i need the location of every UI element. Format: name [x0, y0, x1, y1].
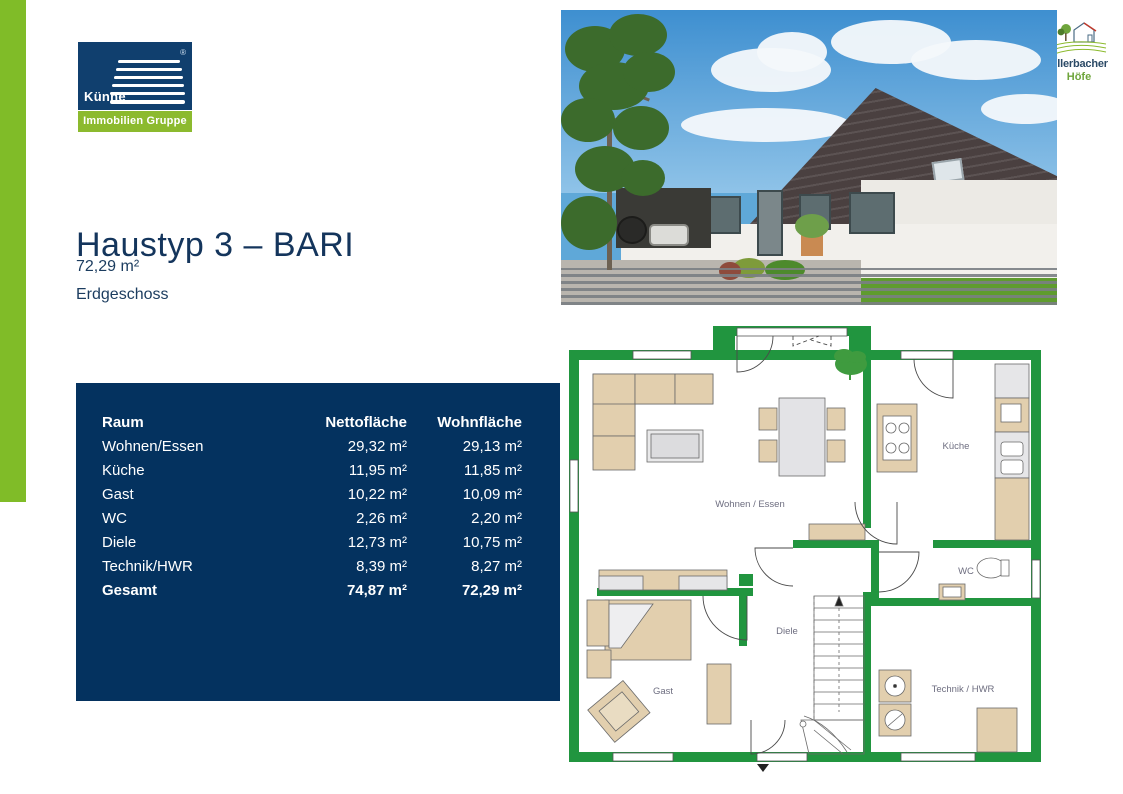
photo-cloud [757, 32, 827, 72]
kuenne-building-bar [114, 76, 183, 79]
table-row: Gast 10,22 m² 10,09 m² [102, 483, 522, 507]
header-netto: Nettofläche [292, 411, 407, 435]
left-accent-bar [0, 0, 26, 502]
fp-furniture-technik [879, 670, 1017, 752]
cell-wohn: 10,75 m² [407, 531, 522, 555]
fp-furniture-wc [939, 558, 1009, 600]
total-wohn: 72,29 m² [407, 579, 522, 603]
photo-cloud [911, 40, 1041, 80]
cell-wohn: 10,09 m² [407, 483, 522, 507]
header-room: Raum [102, 411, 292, 435]
photo-tree-foliage [609, 14, 667, 56]
table-row: Technik/HWR 8,39 m² 8,27 m² [102, 555, 522, 579]
floorplan-svg: Wohnen / Essen Küche WC Technik / HWR Di… [561, 312, 1057, 782]
total-area-text: 72,29 m² [76, 258, 139, 276]
photo-tree [561, 10, 711, 270]
cell-netto: 2,26 m² [292, 507, 407, 531]
photo-window [709, 196, 741, 234]
photo-fence [561, 268, 1057, 305]
cell-room: Technik/HWR [102, 555, 292, 579]
fp-stairs [800, 596, 864, 754]
cell-room: Wohnen/Essen [102, 435, 292, 459]
room-label-gast: Gast [653, 686, 673, 697]
photo-tree-foliage [561, 196, 617, 250]
room-label-kueche: Küche [943, 441, 970, 452]
kuenne-building-bar [116, 68, 182, 71]
cell-room: Gast [102, 483, 292, 507]
cell-wohn: 8,27 m² [407, 555, 522, 579]
kuenne-building-bar [118, 60, 180, 63]
table-row: WC 2,26 m² 2,20 m² [102, 507, 522, 531]
room-area-table-panel: Raum Nettofläche Wohnfläche Wohnen/Essen… [76, 383, 560, 701]
room-area-table: Raum Nettofläche Wohnfläche Wohnen/Essen… [102, 411, 522, 603]
room-label-technik: Technik / HWR [932, 684, 995, 695]
photo-potted-plant [795, 214, 829, 238]
photo-tree-foliage [621, 160, 665, 196]
room-label-wohnen: Wohnen / Essen [715, 499, 785, 510]
table-header-row: Raum Nettofläche Wohnfläche [102, 411, 522, 435]
cell-wohn: 29,13 m² [407, 435, 522, 459]
photo-tree-foliage [561, 98, 615, 142]
total-label: Gesamt [102, 579, 292, 603]
fp-entry-marker [757, 764, 769, 772]
table-total-row: Gesamt 74,87 m² 72,29 m² [102, 579, 522, 603]
photo-window [849, 192, 895, 234]
registered-mark-icon: ® [180, 48, 186, 57]
cell-netto: 29,32 m² [292, 435, 407, 459]
floor-level-text: Erdgeschoss [76, 286, 169, 304]
cell-netto: 12,73 m² [292, 531, 407, 555]
table-row: Küche 11,95 m² 11,85 m² [102, 459, 522, 483]
cell-netto: 10,22 m² [292, 483, 407, 507]
room-label-diele: Diele [776, 626, 798, 637]
house-exterior-photo [561, 10, 1057, 305]
cell-netto: 11,95 m² [292, 459, 407, 483]
kuenne-building-bar [112, 84, 184, 87]
fp-plant-icon [834, 349, 867, 380]
table-row: Diele 12,73 m² 10,75 m² [102, 531, 522, 555]
photo-tree-foliage [613, 106, 669, 150]
cell-wohn: 2,20 m² [407, 507, 522, 531]
kuenne-wordmark: Künne [84, 89, 126, 104]
header-wohn: Wohnfläche [407, 411, 522, 435]
fp-furniture-living [593, 374, 713, 470]
total-netto: 74,87 m² [292, 579, 407, 603]
kuenne-tagline: Immobilien Gruppe [78, 111, 192, 132]
cell-netto: 8,39 m² [292, 555, 407, 579]
fp-furniture-dining [759, 398, 845, 476]
cell-room: WC [102, 507, 292, 531]
photo-entrance-door [757, 190, 783, 256]
floorplan: Wohnen / Essen Küche WC Technik / HWR Di… [561, 312, 1057, 782]
photo-tree-foliage [623, 52, 675, 92]
cell-room: Küche [102, 459, 292, 483]
kuenne-logo: ® Künne Immobilien Gruppe [78, 42, 192, 132]
kuenne-logo-box: ® Künne [78, 42, 192, 110]
cell-room: Diele [102, 531, 292, 555]
fp-furniture-hall [809, 524, 865, 540]
room-label-wc: WC [958, 566, 974, 577]
cell-wohn: 11,85 m² [407, 459, 522, 483]
table-row: Wohnen/Essen 29,32 m² 29,13 m² [102, 435, 522, 459]
kuenne-logo-greenbar: Immobilien Gruppe [78, 111, 192, 132]
